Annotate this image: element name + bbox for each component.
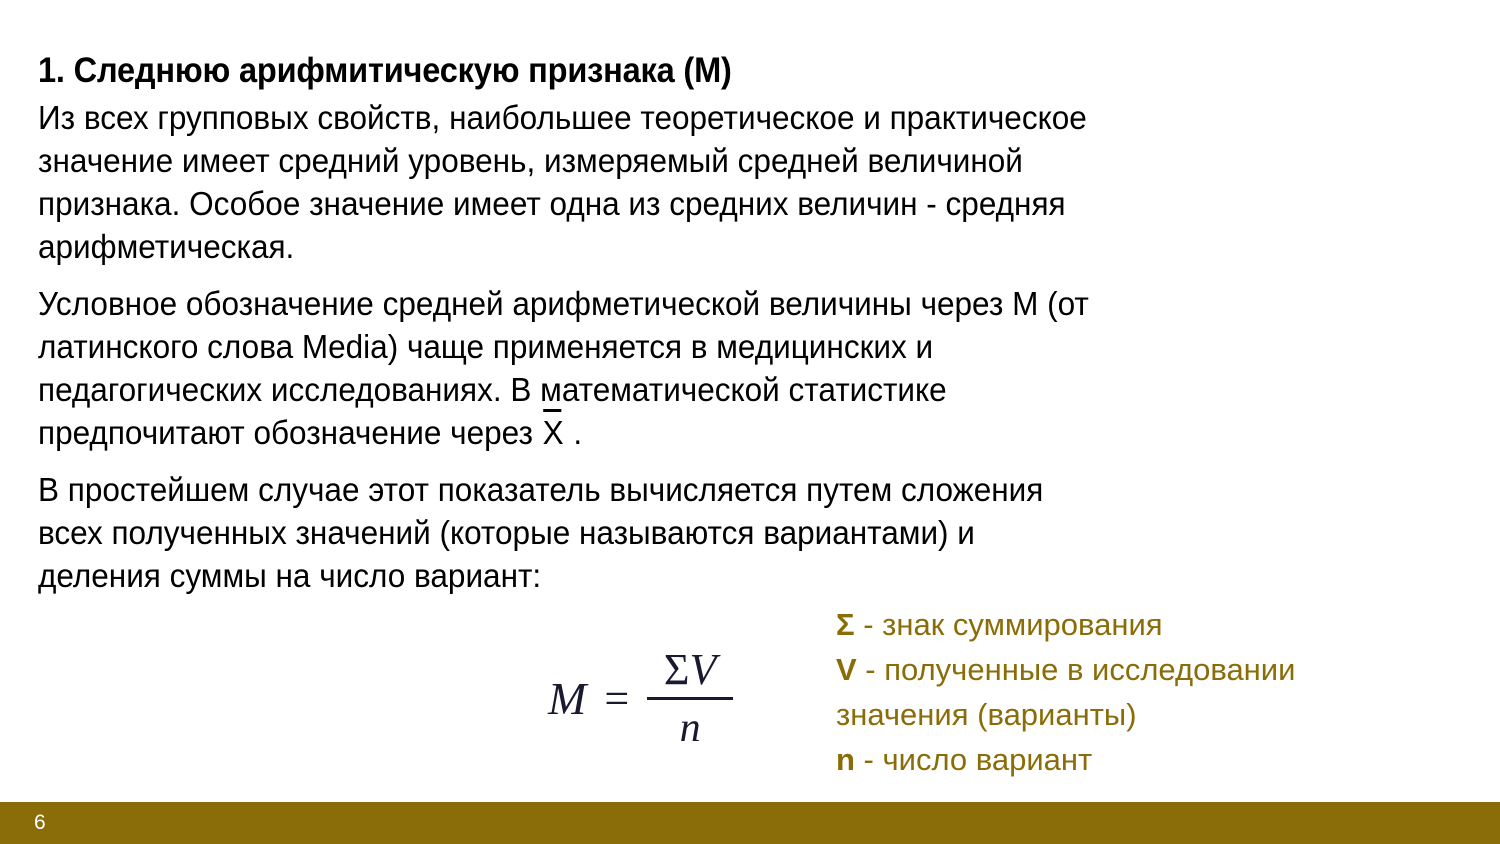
legend-symbol-n: n [836, 742, 855, 777]
legend-row-v: V - полученные в исследовании [836, 647, 1476, 692]
legend-row-n: n - число вариант [836, 737, 1476, 782]
legend-continuation-v: значения (варианты) [836, 692, 1476, 737]
paragraph-1-line-2: значение имеет средний уровень, измеряем… [38, 139, 1461, 182]
body-text-block: Из всех групповых свойств, наибольшее те… [38, 96, 1468, 597]
paragraph-1-line-4: арифметическая. [38, 225, 1461, 268]
legend-symbol-sigma: Σ [836, 607, 855, 642]
slide-canvas: 1. Следнюю арифмитическую признака (М) И… [0, 0, 1500, 844]
formula-legend: Σ - знак суммирования V - полученные в и… [836, 602, 1476, 782]
formula-fraction: ΣV n [647, 648, 733, 749]
slide-number: 6 [34, 811, 46, 835]
legend-row-sigma: Σ - знак суммирования [836, 602, 1476, 647]
mean-formula: M = ΣV n [548, 648, 733, 749]
formula-numerator-variable: V [690, 645, 717, 694]
formula-equals-sign: = [604, 673, 629, 724]
paragraph-3: В простейшем случае этот показатель вычи… [38, 468, 1461, 597]
legend-text-v: полученные в исследовании [884, 652, 1295, 687]
paragraph-2-line-3: педагогических исследованиях. В математи… [38, 368, 1461, 411]
sigma-icon: Σ [664, 645, 690, 694]
paragraph-2: Условное обозначение средней арифметичес… [38, 282, 1461, 454]
formula-numerator: ΣV [658, 648, 723, 697]
paragraph-1-line-3: признака. Особое значение имеет одна из … [38, 182, 1461, 225]
x-bar-symbol: X [542, 411, 565, 454]
legend-text-n: число вариант [883, 742, 1093, 777]
paragraph-2-line-4: предпочитают обозначение через X . [38, 411, 1461, 454]
page-title: 1. Следнюю арифмитическую признака (М) [38, 49, 1340, 93]
xbar-line-suffix: . [565, 414, 583, 451]
legend-text-sigma: знак суммирования [882, 607, 1162, 642]
paragraph-3-line-3: деления суммы на число вариант: [38, 554, 1461, 597]
formula-lhs: M [548, 672, 586, 725]
paragraph-3-line-2: всех полученных значений (которые называ… [38, 511, 1461, 554]
paragraph-1: Из всех групповых свойств, наибольшее те… [38, 96, 1461, 268]
footer-bar: 6 [0, 802, 1500, 844]
paragraph-1-line-1: Из всех групповых свойств, наибольшее те… [38, 96, 1461, 139]
legend-dash-n: - [855, 742, 883, 777]
legend-symbol-v: V [836, 652, 857, 687]
paragraph-3-line-1: В простейшем случае этот показатель вычи… [38, 468, 1461, 511]
paragraph-2-line-2: латинского слова Media) чаще применяется… [38, 325, 1461, 368]
paragraph-2-line-1: Условное обозначение средней арифметичес… [38, 282, 1461, 325]
legend-dash-v: - [857, 652, 885, 687]
xbar-line-prefix: предпочитают обозначение через [38, 414, 542, 451]
formula-denominator: n [674, 700, 707, 749]
legend-dash-sigma: - [855, 607, 883, 642]
